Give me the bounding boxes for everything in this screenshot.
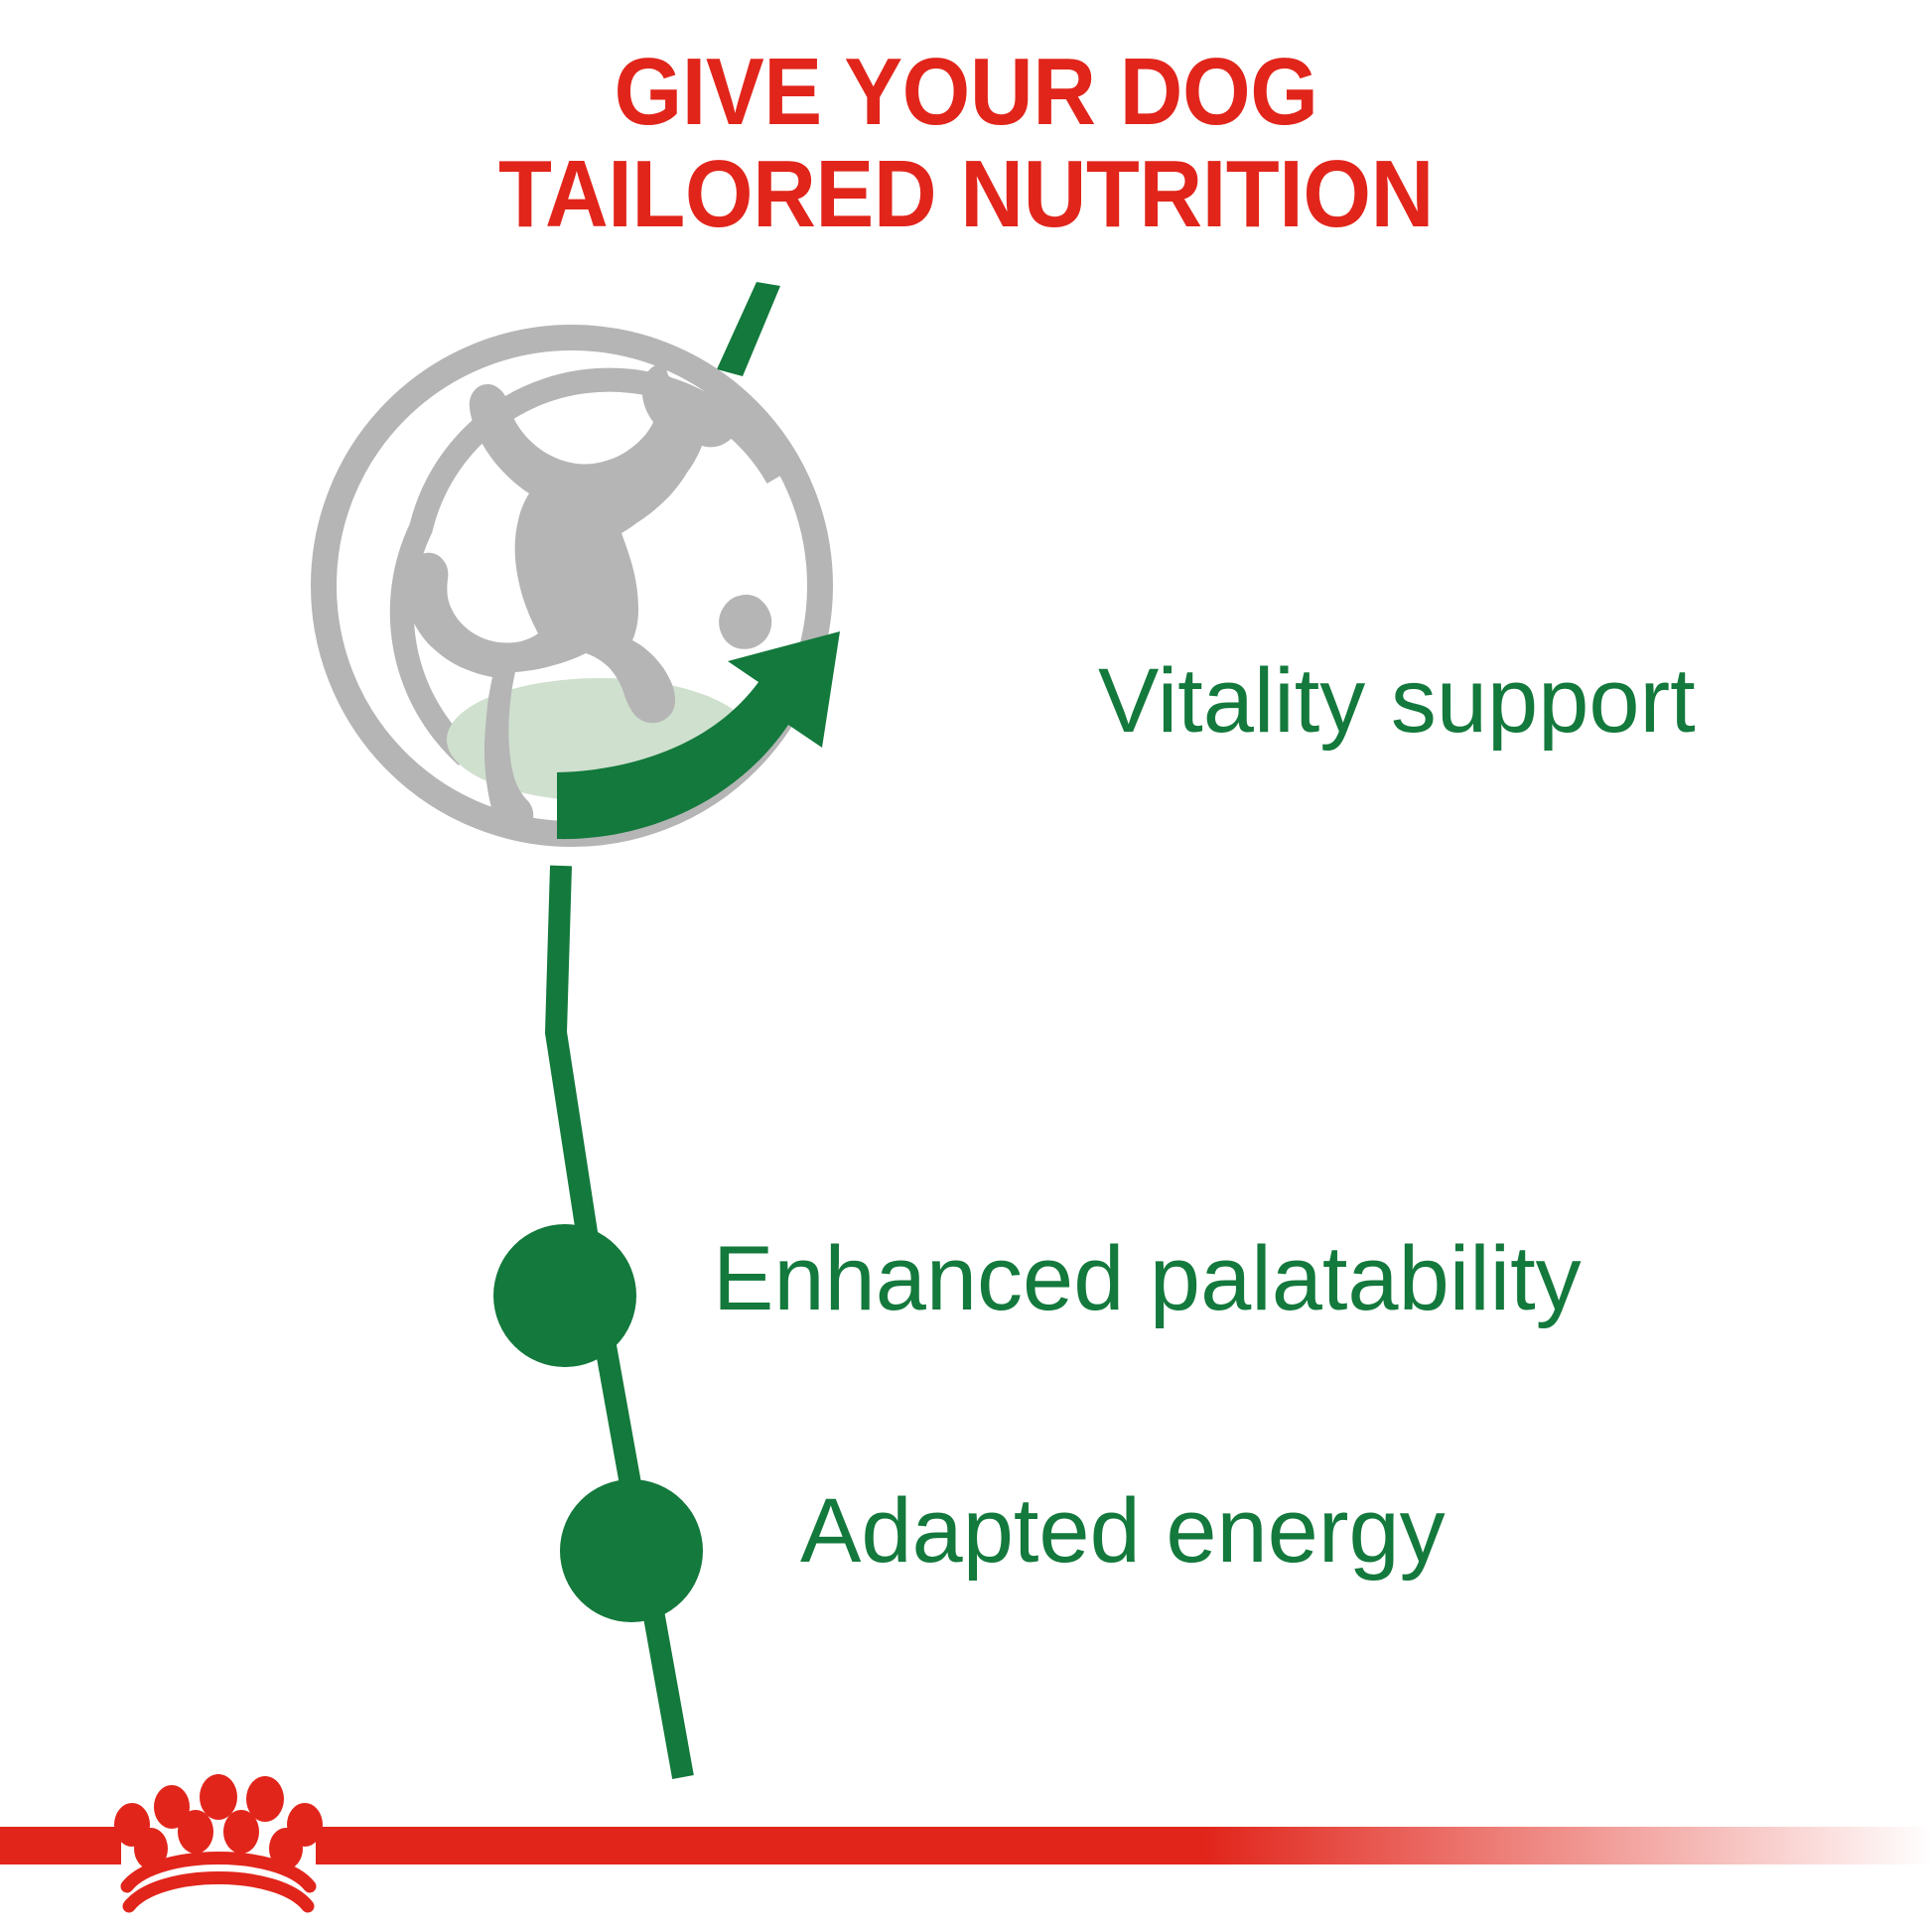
benefit-label-enhanced-palatability: Enhanced palatability: [713, 1233, 1582, 1324]
connector-node-1: [493, 1224, 636, 1367]
royal-canin-crown-icon: [114, 1774, 323, 1906]
jumping-dog-vitality-icon: [324, 338, 840, 839]
green-slash-connector-icon: [717, 282, 780, 376]
infographic-artwork: [0, 0, 1932, 1932]
benefit-label-adapted-energy: Adapted energy: [800, 1485, 1446, 1577]
product-benefits-infographic: GIVE YOUR DOG TAILORED NUTRITION: [0, 0, 1932, 1932]
connector-node-2: [560, 1479, 703, 1622]
benefit-connector-line: [493, 866, 703, 1777]
benefit-label-vitality-support: Vitality support: [1098, 655, 1696, 747]
